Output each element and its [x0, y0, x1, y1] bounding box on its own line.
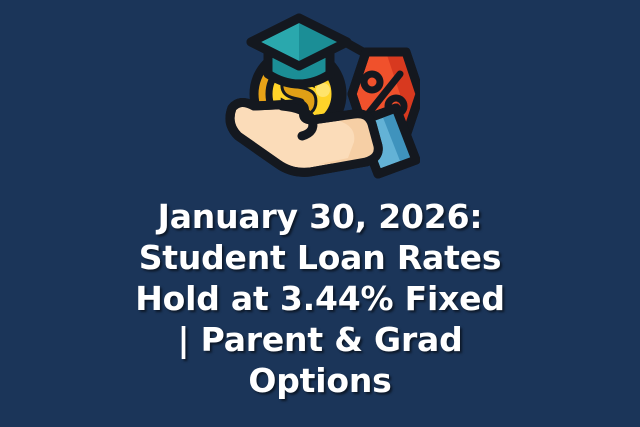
headline-line-2: Student Loan Rates	[24, 237, 616, 278]
headline-line-3: Hold at 3.44% Fixed	[24, 278, 616, 319]
headline-line-1: January 30, 2026:	[24, 196, 616, 237]
illustration-container: S	[0, 12, 640, 172]
promo-banner: S	[0, 0, 640, 427]
graduation-cap	[251, 18, 347, 84]
open-hand	[230, 102, 378, 172]
headline-line-4: | Parent & Grad	[24, 319, 616, 360]
hand-holding-student-loan-coin-with-percent-tag-icon: S	[220, 12, 420, 180]
page-title: January 30, 2026: Student Loan Rates Hol…	[0, 196, 640, 401]
headline-line-5: Options	[24, 360, 616, 401]
